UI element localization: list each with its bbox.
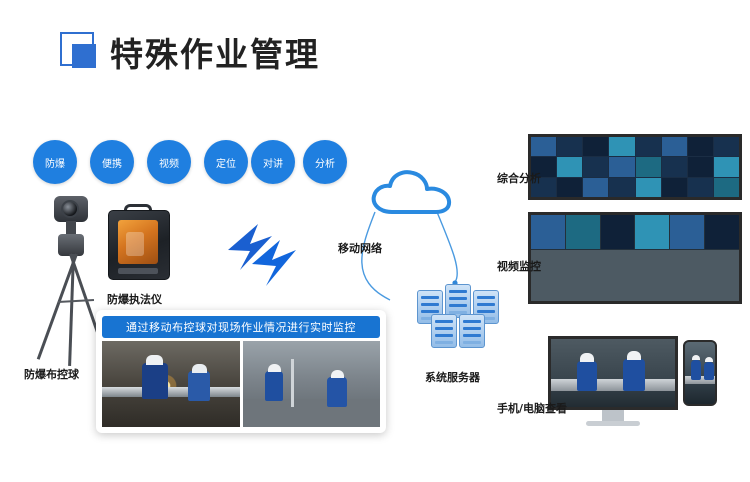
server-unit bbox=[459, 314, 485, 348]
feature-pill-label: 定位 bbox=[216, 155, 236, 170]
feature-pill-label: 便携 bbox=[102, 155, 122, 170]
title-square-icon bbox=[60, 32, 94, 66]
feature-pill-label: 视频 bbox=[159, 155, 179, 170]
live-monitoring-card[interactable]: 通过移动布控球对现场作业情况进行实时监控 bbox=[96, 310, 386, 433]
label-ball-camera: 防爆布控球 bbox=[24, 366, 79, 382]
feature-pill-explosion-proof[interactable]: 防爆 bbox=[33, 140, 77, 184]
desktop-monitor[interactable] bbox=[548, 336, 678, 432]
feature-pill-intercom[interactable]: 对讲 bbox=[251, 140, 295, 184]
photo-site-scene bbox=[243, 341, 381, 427]
label-video-surveillance: 视频监控 bbox=[497, 258, 541, 274]
video-wall-surveillance[interactable] bbox=[528, 212, 742, 304]
server-unit bbox=[431, 314, 457, 348]
card-banner: 通过移动布控球对现场作业情况进行实时监控 bbox=[102, 316, 380, 338]
page-title: 特殊作业管理 bbox=[110, 28, 320, 76]
camera-lens bbox=[61, 200, 79, 218]
mobile-phone[interactable] bbox=[683, 340, 717, 406]
feature-pill-analysis[interactable]: 分析 bbox=[303, 140, 347, 184]
label-enforcement-recorder: 防爆执法仪 bbox=[107, 291, 162, 307]
label-phone-pc-view: 手机/电脑查看 bbox=[497, 400, 567, 416]
label-mobile-network: 移动网络 bbox=[338, 240, 382, 256]
feature-pill-video[interactable]: 视频 bbox=[147, 140, 191, 184]
label-comprehensive-analysis: 综合分析 bbox=[497, 170, 541, 186]
monitor-base bbox=[586, 421, 640, 426]
device-control-bar bbox=[118, 268, 158, 274]
device-body bbox=[108, 210, 170, 280]
device-screen bbox=[118, 220, 158, 264]
feature-pill-positioning[interactable]: 定位 bbox=[204, 140, 248, 184]
lightning-bolt-icon bbox=[226, 224, 300, 286]
feature-pill-label: 对讲 bbox=[263, 155, 283, 170]
feature-pill-portable[interactable]: 便携 bbox=[90, 140, 134, 184]
feature-pill-label: 分析 bbox=[315, 155, 335, 170]
diagram-canvas: 特殊作业管理 防爆 便携 视频 定位 对讲 分析 防爆布控球 防爆执法仪 bbox=[0, 0, 750, 482]
server-stack-icon bbox=[407, 280, 503, 352]
cloud-icon bbox=[370, 168, 458, 218]
feature-pill-label: 防爆 bbox=[45, 155, 65, 170]
monitor-screen[interactable] bbox=[548, 336, 678, 410]
server-unit bbox=[445, 284, 471, 318]
label-system-server: 系统服务器 bbox=[425, 369, 480, 385]
enforcement-recorder-icon bbox=[108, 210, 170, 286]
photo-welding-scene bbox=[102, 341, 240, 427]
card-photos bbox=[102, 341, 380, 427]
video-wall-analysis[interactable] bbox=[528, 134, 742, 200]
